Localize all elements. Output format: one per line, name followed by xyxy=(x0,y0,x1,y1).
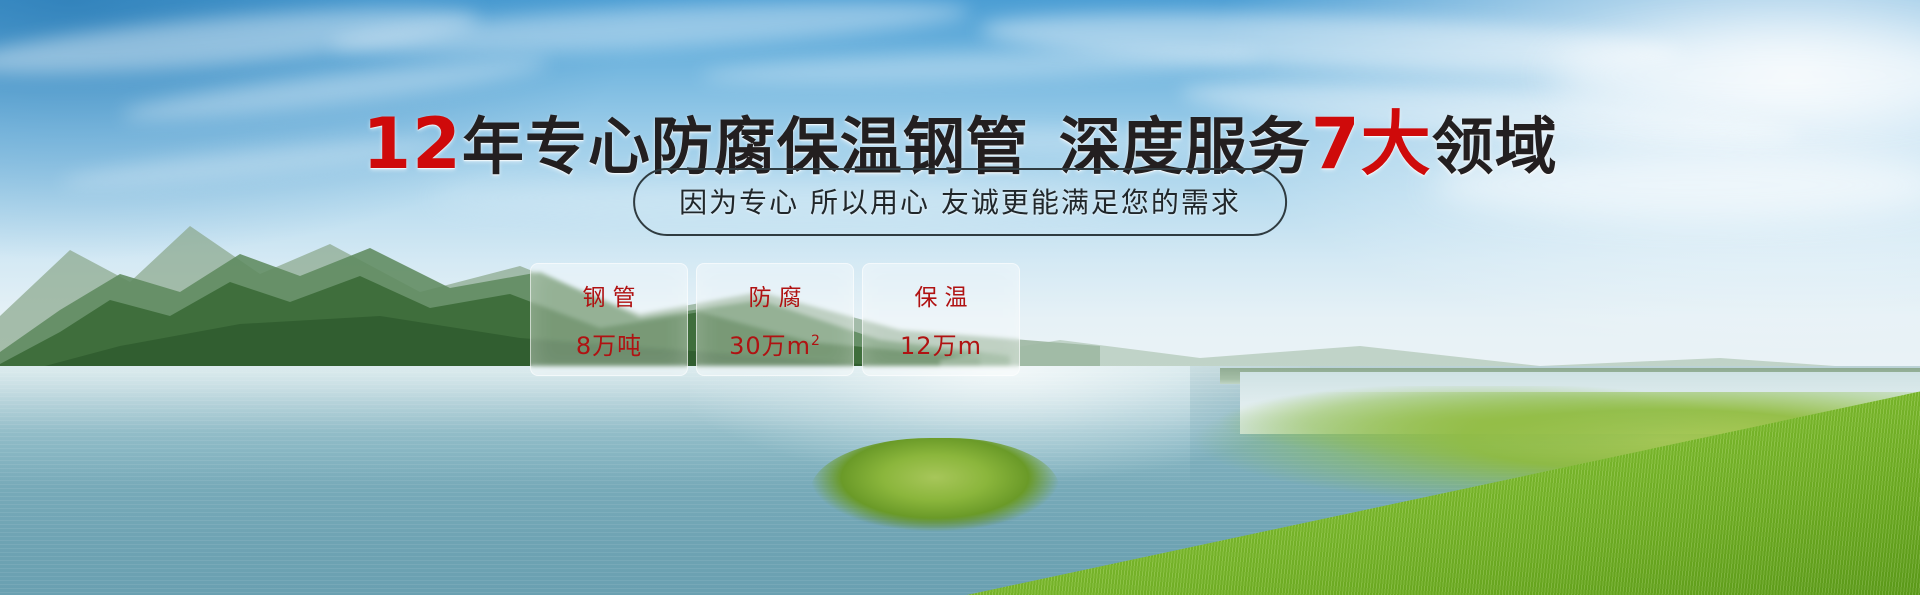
stat-card-superscript: 2 xyxy=(811,333,821,349)
headline-segment-3: 领域 xyxy=(1432,110,1558,183)
stat-card-group: 钢管 8万吨 防腐 30万m2 保温 12万m xyxy=(530,263,1020,376)
stat-card-value: 8万吨 xyxy=(576,326,642,361)
stat-card-anticorrosion[interactable]: 防腐 30万m2 xyxy=(696,263,854,376)
stat-card-title: 保温 xyxy=(908,278,975,312)
stat-card-title: 钢管 xyxy=(576,278,643,312)
grass-islet xyxy=(810,438,1060,532)
headline-accent-char: 大 xyxy=(1361,103,1432,185)
stat-card-insulation[interactable]: 保温 12万m xyxy=(862,263,1020,376)
marsh-vegetation-secondary xyxy=(1220,386,1740,456)
hero-banner: 12年专心防腐保温钢管深度服务7大领域 因为专心 所以用心 友诚更能满足您的需求… xyxy=(0,0,1920,595)
stat-card-steel-pipe[interactable]: 钢管 8万吨 xyxy=(530,263,688,376)
headline-fields-number: 7 xyxy=(1311,103,1361,185)
headline-years-number: 12 xyxy=(362,103,461,185)
stat-card-value: 30万m2 xyxy=(729,326,821,361)
subtitle-pill: 因为专心 所以用心 友诚更能满足您的需求 xyxy=(633,168,1287,236)
stat-card-title: 防腐 xyxy=(742,278,809,312)
stat-card-value: 12万m xyxy=(900,326,982,361)
